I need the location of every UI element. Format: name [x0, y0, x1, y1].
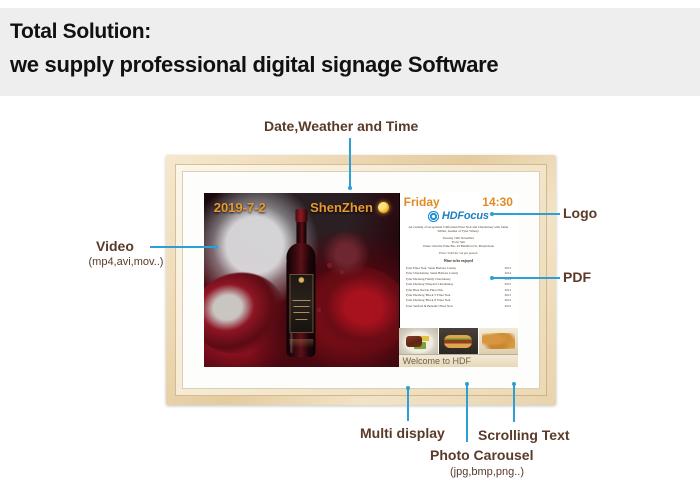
wine-name: Tyler Chardonnay, Santa Barbara County	[406, 271, 459, 275]
wine-droplet	[327, 263, 332, 268]
pdf-meta-text: Tuesday 19th November From 7pm Venue: Da…	[404, 236, 513, 248]
wine-year: 2013	[501, 266, 511, 270]
bottle-label-line	[293, 312, 310, 313]
pdf-region[interactable]: Friday 14:30 HDFocus An evening of excep…	[399, 193, 518, 367]
clock-text: 14:30	[482, 195, 513, 209]
pdf-clock-bar: Friday 14:30	[399, 193, 518, 209]
leader-line-scrolling-text	[513, 384, 515, 422]
bottle-label	[289, 274, 313, 333]
wine-name: Tyler Pinot Noir, Santa Barbara County	[406, 266, 456, 270]
leader-dot-date-weather-time	[348, 186, 352, 190]
wine-name: Tyler Dierberg Vineyard Chardonnay	[406, 282, 454, 286]
callout-photo-carousel-label: Photo Carousel	[430, 447, 533, 463]
leader-line-video	[150, 246, 216, 248]
leader-dot-scrolling-text	[512, 382, 516, 386]
leader-dot-photo-carousel	[465, 382, 469, 386]
callout-pdf: PDF	[563, 269, 591, 285]
callout-date-weather-time: Date,Weather and Time	[264, 118, 418, 134]
callout-date-weather-time-label: Date,Weather and Time	[264, 118, 418, 134]
bottle-label-line	[293, 306, 309, 307]
callout-logo: Logo	[563, 205, 597, 221]
callout-video-sublabel: (mp4,avi,mov..)	[65, 256, 187, 268]
weekday-text: Friday	[404, 195, 440, 209]
callout-multi-display: Multi display	[360, 425, 445, 441]
carousel-photo-1[interactable]	[399, 328, 438, 354]
wine-splash-left	[204, 263, 294, 363]
wine-list-row: Tyler Bien Nacido Pinot Noir2013	[406, 288, 511, 292]
wine-name: Tyler Sanford & Benedict Pinot Noir	[406, 304, 453, 308]
wine-year: 2013	[501, 293, 511, 297]
wine-year: 2014	[501, 298, 511, 302]
wine-name: Tyler Dierberg 'Block 5' Pinot Noir	[406, 293, 451, 297]
logo-text: HDFocus	[442, 210, 489, 222]
osd-city: ShenZhen	[310, 200, 373, 215]
callout-video: Video (mp4,avi,mov..)	[96, 238, 134, 254]
carousel-photo-2[interactable]	[439, 328, 478, 354]
wine-list-row: Tyler Dierberg 'Block 8' Pinot Noir2014	[406, 298, 511, 302]
hdfocus-logo-icon	[428, 211, 439, 222]
callout-scrolling-text-label: Scrolling Text	[478, 427, 570, 443]
ticker-text: Welcome to HDF	[399, 356, 471, 366]
wine-name: Tyler Bien Nacido Pinot Noir	[406, 288, 444, 292]
bottle-label-line	[292, 300, 310, 301]
slide-canvas: Total Solution: we supply professional d…	[0, 0, 700, 500]
leader-line-logo	[492, 213, 560, 215]
video-region[interactable]: 2019-7-2 ShenZhen	[204, 193, 399, 367]
pdf-document-body: An evening of exceptional Californian Pi…	[399, 224, 518, 328]
wine-name: Tyler Dierberg Family Chardonnay	[406, 277, 451, 281]
carousel-photo-3[interactable]	[479, 328, 518, 354]
callout-scrolling-text: Scrolling Text	[478, 427, 570, 443]
callout-video-label: Video	[96, 238, 134, 254]
signage-screen: 2019-7-2 ShenZhen Friday 14:30 HDFocus	[204, 193, 518, 367]
callout-logo-label: Logo	[563, 205, 597, 221]
leader-line-pdf	[492, 277, 560, 279]
leader-dot-pdf	[490, 276, 494, 280]
bottle-label-crest	[298, 277, 304, 283]
leader-line-photo-carousel	[466, 384, 468, 442]
wine-list-row: Tyler Chardonnay, Santa Barbara County20…	[406, 271, 511, 275]
header-line-1: Total Solution:	[10, 20, 151, 44]
callout-multi-display-label: Multi display	[360, 425, 445, 441]
wine-list-row: Tyler Dierberg Vineyard Chardonnay2015	[406, 282, 511, 286]
wine-year: 2015	[501, 282, 511, 286]
leader-dot-multi-display	[406, 386, 410, 390]
bottle-label-line	[295, 319, 307, 320]
wine-name: Tyler Dierberg 'Block 8' Pinot Noir	[406, 298, 451, 302]
pdf-subtitle: Wine to be enjoyed	[404, 259, 513, 263]
pdf-price-text: Price: £120 inc vat per person	[404, 251, 513, 255]
picture-frame: 2019-7-2 ShenZhen Friday 14:30 HDFocus	[166, 155, 556, 405]
bottle-base-glow	[289, 339, 313, 348]
leader-dot-video	[214, 245, 218, 249]
wine-list: Tyler Pinot Noir, Santa Barbara County20…	[404, 266, 513, 308]
leader-dot-logo	[490, 212, 494, 216]
scrolling-text-band: Welcome to HDF	[399, 354, 518, 367]
frame-mat: 2019-7-2 ShenZhen Friday 14:30 HDFocus	[182, 171, 540, 389]
wine-list-row: Tyler Pinot Noir, Santa Barbara County20…	[406, 266, 511, 270]
callout-pdf-label: PDF	[563, 269, 591, 285]
osd-date: 2019-7-2	[214, 200, 266, 215]
header-banner: Total Solution: we supply professional d…	[0, 8, 700, 96]
leader-line-date-weather-time	[349, 138, 351, 188]
wine-year: 2012	[501, 304, 511, 308]
callout-photo-carousel-sublabel: (jpg,bmp,png..)	[432, 466, 542, 478]
photo-carousel[interactable]	[399, 328, 518, 354]
callout-photo-carousel: Photo Carousel (jpg,bmp,png..)	[430, 447, 533, 463]
osd-overlay: 2019-7-2 ShenZhen	[204, 200, 399, 215]
sun-icon	[378, 202, 389, 213]
wine-list-row: Tyler Sanford & Benedict Pinot Noir2012	[406, 304, 511, 308]
header-line-2: we supply professional digital signage S…	[10, 52, 498, 78]
logo-area[interactable]: HDFocus	[399, 210, 518, 222]
wine-year: 2013	[501, 288, 511, 292]
wine-list-row: Tyler Dierberg 'Block 5' Pinot Noir2013	[406, 293, 511, 297]
leader-line-multi-display	[407, 388, 409, 421]
wine-splash-top	[321, 231, 372, 276]
wine-year: 2014	[501, 271, 511, 275]
wine-droplet	[340, 270, 344, 274]
wine-bottle-image	[285, 209, 318, 357]
pdf-intro-text: An evening of exceptional Californian Pi…	[404, 225, 513, 233]
